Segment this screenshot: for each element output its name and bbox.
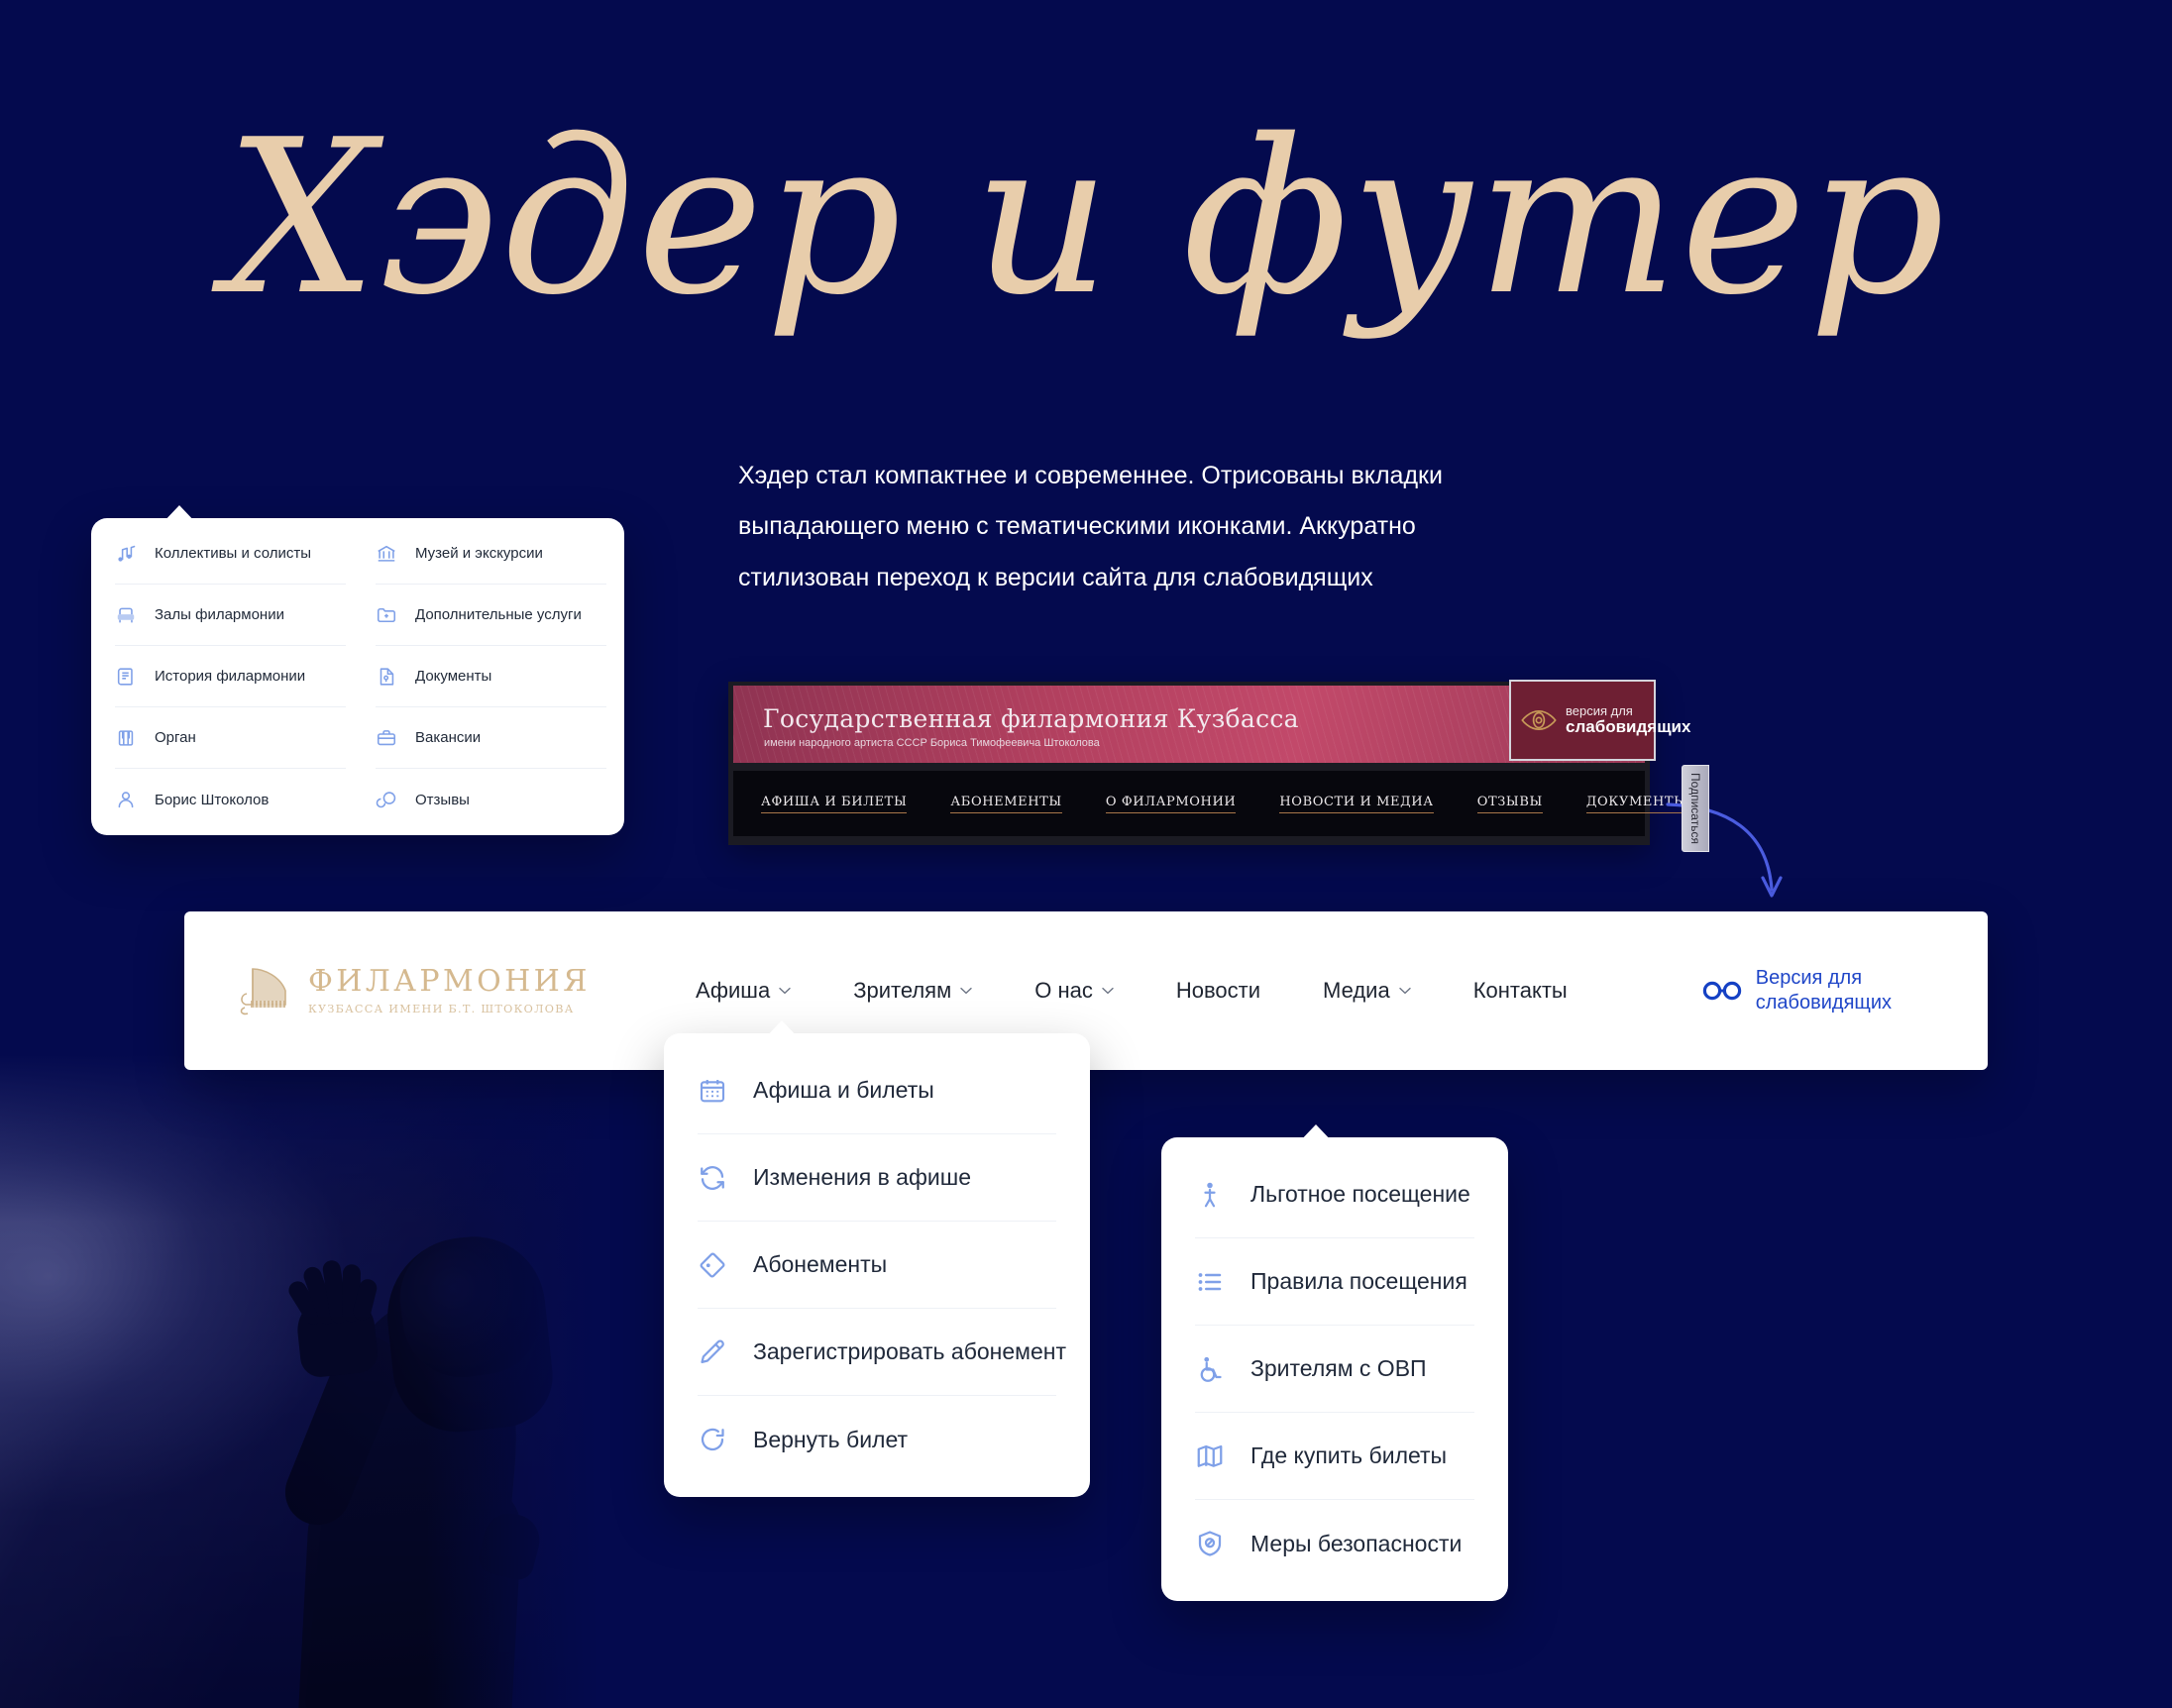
legacy-nav-item[interactable]: О ФИЛАРМОНИИ <box>1106 795 1237 813</box>
about-item-label: Документы <box>415 668 491 685</box>
ticket-icon <box>698 1250 727 1280</box>
afisha-item-return[interactable]: Вернуть билет <box>698 1396 1056 1483</box>
eye-icon <box>1519 700 1559 740</box>
about-dropdown-right-column: Музей и экскурсии Дополнительные услуги … <box>358 518 624 835</box>
viewers-item-where-to-buy[interactable]: Где купить билеты <box>1195 1413 1474 1500</box>
legacy-nav: АФИША И БИЛЕТЫ АБОНЕМЕНТЫ О ФИЛАРМОНИИ Н… <box>733 771 1645 836</box>
afisha-item-subscriptions[interactable]: Абонементы <box>698 1222 1056 1309</box>
logo-tagline: КУЗБАССА ИМЕНИ Б.Т. ШТОКОЛОВА <box>308 1004 591 1014</box>
legacy-vision-badge[interactable]: версия для слабовидящих <box>1509 680 1656 761</box>
viewers-item-label: Зрителям с ОВП <box>1250 1355 1427 1382</box>
about-item-label: Залы филармонии <box>155 606 284 623</box>
viewers-item-accessibility[interactable]: Зрителям с ОВП <box>1195 1326 1474 1413</box>
chevron-down-icon <box>1399 987 1411 995</box>
about-item-label: Коллективы и солисты <box>155 545 311 562</box>
dropdown-pointer <box>1297 1124 1335 1144</box>
chevron-down-icon <box>1102 987 1114 995</box>
about-item-label: Дополнительные услуги <box>415 606 582 623</box>
viewers-item-label: Меры безопасности <box>1250 1531 1462 1557</box>
afisha-item-label: Афиша и билеты <box>753 1077 934 1104</box>
about-item-reviews[interactable]: Отзывы <box>376 769 606 830</box>
calendar-icon <box>698 1076 727 1106</box>
logo-name: ФИЛАРМОНИЯ <box>308 967 591 997</box>
legacy-nav-item[interactable]: АФИША И БИЛЕТЫ <box>761 795 907 813</box>
afisha-item-label: Абонементы <box>753 1251 887 1278</box>
about-dropdown-left-column: Коллективы и солисты Залы филармонии <box>91 518 358 835</box>
nav-item-label: Медиа <box>1323 978 1390 1004</box>
nav-item-media[interactable]: Медиа <box>1323 978 1411 1004</box>
glasses-icon <box>1702 980 1742 1002</box>
viewers-item-label: Где купить билеты <box>1250 1442 1447 1469</box>
nav-item-afisha[interactable]: Афиша <box>696 978 791 1004</box>
nav-item-viewers[interactable]: Зрителям <box>853 978 972 1004</box>
about-item-label: Музей и экскурсии <box>415 545 543 562</box>
vision-version-link[interactable]: Версия для слабовидящих <box>1702 966 1892 1015</box>
about-item-label: Вакансии <box>415 729 481 746</box>
dropdown-pointer <box>161 505 198 525</box>
nav-item-about[interactable]: О нас <box>1034 978 1114 1004</box>
page-description: Хэдер стал компактнее и современнее. Отр… <box>738 451 1491 603</box>
person-standing-icon <box>1195 1180 1225 1210</box>
afisha-item-label: Зарегистрировать абонемент <box>753 1338 1066 1365</box>
return-arrow-icon <box>698 1425 727 1454</box>
main-nav: Афиша Зрителям О нас Новости Медиа Конта… <box>696 978 1568 1004</box>
afisha-item-register[interactable]: Зарегистрировать абонемент <box>698 1309 1056 1396</box>
map-icon <box>1195 1441 1225 1471</box>
folder-plus-icon <box>376 604 397 626</box>
about-item-history[interactable]: История филармонии <box>115 646 346 707</box>
viewers-item-rules[interactable]: Правила посещения <box>1195 1238 1474 1326</box>
legacy-site-subtitle: имени народного артиста СССР Бориса Тимо… <box>764 737 1100 749</box>
nav-item-label: Афиша <box>696 978 770 1004</box>
chevron-down-icon <box>960 987 972 995</box>
afisha-dropdown-panel: Афиша и билеты Изменения в афише Абонеме… <box>664 1033 1090 1497</box>
chevron-down-icon <box>779 987 791 995</box>
briefcase-icon <box>376 727 397 749</box>
nav-item-label: Контакты <box>1473 978 1568 1004</box>
nav-item-contacts[interactable]: Контакты <box>1473 978 1568 1004</box>
museum-icon <box>376 543 397 565</box>
list-icon <box>1195 1267 1225 1297</box>
piano-keys-icon <box>115 727 137 749</box>
about-dropdown-panel: Коллективы и солисты Залы филармонии <box>91 518 624 835</box>
viewers-item-label: Правила посещения <box>1250 1268 1467 1295</box>
pencil-icon <box>698 1337 727 1367</box>
legacy-nav-item[interactable]: НОВОСТИ И МЕДИА <box>1279 795 1433 813</box>
legacy-nav-item[interactable]: ОТЗЫВЫ <box>1477 795 1543 813</box>
music-notes-icon <box>115 543 137 565</box>
afisha-item-changes[interactable]: Изменения в афише <box>698 1134 1056 1222</box>
vision-link-line1: Версия для <box>1756 966 1892 991</box>
legacy-subscribe-label: Подписаться <box>1688 773 1702 844</box>
about-item-label: Борис Штоколов <box>155 792 269 808</box>
viewers-dropdown-panel: Льготное посещение Правила посещения <box>1161 1137 1508 1601</box>
about-item-vacancies[interactable]: Вакансии <box>376 707 606 769</box>
legacy-site-title: Государственная филармония Кузбасса <box>763 704 1299 733</box>
about-item-documents[interactable]: Документы <box>376 646 606 707</box>
about-item-museum[interactable]: Музей и экскурсии <box>376 523 606 585</box>
viewers-item-label: Льготное посещение <box>1250 1181 1470 1208</box>
vision-link-line2: слабовидящих <box>1756 991 1892 1015</box>
about-item-label: Отзывы <box>415 792 470 808</box>
nav-item-label: Новости <box>1176 978 1260 1004</box>
page-title: Хэдер и футер <box>0 111 2172 324</box>
viewers-item-safety[interactable]: Меры безопасности <box>1195 1500 1474 1587</box>
about-item-collectives[interactable]: Коллективы и солисты <box>115 523 346 585</box>
refresh-icon <box>698 1163 727 1193</box>
person-icon <box>115 789 137 810</box>
shield-check-icon <box>1195 1529 1225 1558</box>
afisha-item-label: Изменения в афише <box>753 1164 971 1191</box>
about-item-halls[interactable]: Залы филармонии <box>115 585 346 646</box>
about-item-extra-services[interactable]: Дополнительные услуги <box>376 585 606 646</box>
afisha-item-label: Вернуть билет <box>753 1427 908 1453</box>
legacy-nav-item[interactable]: АБОНЕМЕНТЫ <box>950 795 1061 813</box>
poster-canvas: Хэдер и футер Хэдер стал компактнее и со… <box>0 0 2172 1708</box>
about-item-organ[interactable]: Орган <box>115 707 346 769</box>
legacy-vision-line1: версия для <box>1566 704 1690 718</box>
afisha-item-tickets[interactable]: Афиша и билеты <box>698 1047 1056 1134</box>
about-item-label: Орган <box>155 729 196 746</box>
nav-item-label: Зрителям <box>853 978 951 1004</box>
legacy-subscribe-tab[interactable]: Подписаться <box>1682 765 1709 852</box>
chat-bubbles-icon <box>376 789 397 810</box>
nav-item-label: О нас <box>1034 978 1093 1004</box>
grand-piano-icon <box>237 964 292 1017</box>
about-item-shtokolov[interactable]: Борис Штоколов <box>115 769 346 830</box>
legacy-vision-line2: слабовидящих <box>1566 718 1690 737</box>
legacy-banner: Государственная филармония Кузбасса имен… <box>733 686 1645 763</box>
document-icon <box>376 666 397 688</box>
book-icon <box>115 666 137 688</box>
logo[interactable]: ФИЛАРМОНИЯ КУЗБАССА ИМЕНИ Б.Т. ШТОКОЛОВА <box>237 964 564 1017</box>
legacy-site-screenshot: Государственная филармония Кузбасса имен… <box>728 682 1650 845</box>
viewers-item-benefits[interactable]: Льготное посещение <box>1195 1151 1474 1238</box>
about-item-label: История филармонии <box>155 668 305 685</box>
nav-item-news[interactable]: Новости <box>1176 978 1260 1004</box>
armchair-icon <box>115 604 137 626</box>
wheelchair-icon <box>1195 1354 1225 1384</box>
performer-photo <box>0 1054 614 1708</box>
